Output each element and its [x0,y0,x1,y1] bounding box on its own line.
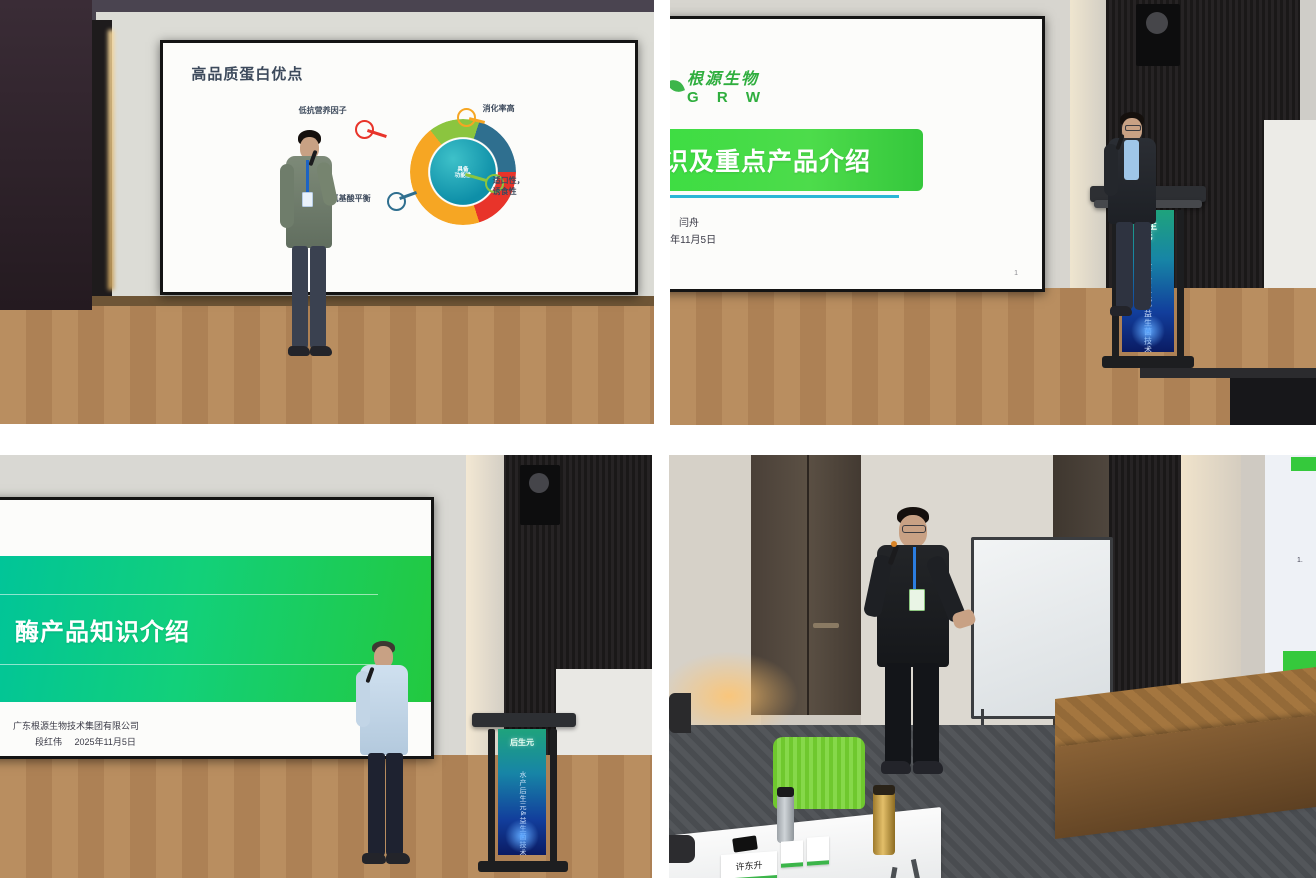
thermos-gold[interactable] [873,791,895,855]
callout-line-antinutrient [337,116,397,146]
slide-surface-2: 根源生物 G R W 识及重点产品介绍 闫舟 25年11月5日 1 [670,19,1042,289]
speaker-leg-left [292,246,308,350]
wall-right-2 [1264,120,1316,300]
podium-3: 后生元 水产后生元&益生菌技术峰会 [478,713,570,878]
podium-leg-right [1177,210,1184,360]
glasses-icon-4 [902,525,926,533]
speaker-leg-left-2 [1116,222,1133,310]
photo-collage: 高品质蛋白优点 top-right 具备 功能性 [0,0,1316,878]
door-handle [813,623,839,628]
slide-title: 高品质蛋白优点 [191,63,303,84]
speaker-cone-icon [1146,12,1168,34]
wall-left-panel [0,0,92,310]
slide-presenter: 闫舟 [670,215,716,232]
speaker-figure-2 [1106,112,1166,322]
speaker-shoe-left-4 [881,761,911,774]
speaker-shoe-left-3 [362,853,386,864]
slide-title-band: 识及重点产品介绍 [670,129,923,191]
callout-label-palatability-line2: 诱食性 [493,187,517,196]
podium-desktop-3 [472,713,576,727]
whiteboard-surface [974,540,1110,716]
podium-base [1102,356,1194,368]
scene-auditorium-2: 根源生物 G R W 识及重点产品介绍 闫舟 25年11月5日 1 [670,0,1316,425]
speaker-shoe-left [288,346,310,356]
speaker-cone-icon-3 [529,473,549,493]
scene-auditorium-3: 酶产品知识介绍 广东根源生物技术集团有限公司 段红伟 2025年11月5日 [0,455,652,878]
slide-meta-3: 广东根源生物技术集团有限公司 段红伟 2025年11月5日 [13,718,139,750]
wall-light-strip [108,30,114,290]
speaker-badge [302,192,313,207]
slide-presenter-3: 段红伟 2025年11月5日 [13,734,139,750]
podium-light-glow-3 [505,819,539,853]
band-inner-line-top [0,594,378,595]
band-inner-line-bottom [0,664,378,665]
slide-meta: 闫舟 25年11月5日 [670,215,716,249]
attendee-arm-left [669,835,695,863]
callout-label-digestibility: 消化率高 [483,104,515,114]
callout-line-aminoacid [365,190,425,220]
speaker-leg-right-3 [386,753,403,857]
speaker-shoe-right [310,346,332,356]
podium-logo-text-3: 后生元 [510,739,534,748]
donut-diagram: top-right 具备 功能性 消化率高 [371,98,616,252]
thermos-lid [873,785,895,795]
scene-auditorium-1: 高品质蛋白优点 top-right 具备 功能性 [0,0,654,424]
brand-logo: 根源生物 G R W [670,65,767,106]
title-underline-rule [670,195,899,198]
name-card: 许东升 [721,851,777,878]
projection-screen-frame-2: 根源生物 G R W 识及重点产品介绍 闫舟 25年11月5日 1 [670,16,1045,292]
slide-company: 广东根源生物技术集团有限公司 [13,718,139,734]
callout-label-antinutrient: 低抗营养因子 [299,106,347,116]
photo-speaker-with-enzyme-product-slide[interactable]: 酶产品知识介绍 广东根源生物技术集团有限公司 段红伟 2025年11月5日 [0,455,652,878]
speaker-shoe-left-2 [1110,306,1132,316]
side-projection-screen: 1. [1265,455,1316,677]
speaker-shoe-right-3 [386,853,410,864]
side-screen-text: 1. [1297,557,1303,564]
tumbler-lid [777,787,794,797]
speaker-arm-left [280,164,294,228]
slide-presenter-name-3: 段红伟 [35,737,62,747]
floor-parquet-2 [670,288,1316,425]
attendee-shoulder-left [669,693,691,733]
scene-conference-room-4: 1. [669,455,1316,878]
slide-date: 25年11月5日 [670,232,716,249]
ceiling-speaker-3 [520,465,560,525]
photo-speaker-gesturing-near-front-table[interactable]: 1. [669,455,1316,878]
stage-front-dark [1230,376,1316,425]
slide-surface-1: 高品质蛋白优点 top-right 具备 功能性 [163,43,635,292]
whiteboard-frame [971,537,1113,719]
callout-label-palatability: 适口性， 诱食性 [493,176,525,198]
photo-speaker-at-podium-with-title-slide[interactable]: 根源生物 G R W 识及重点产品介绍 闫舟 25年11月5日 1 [670,0,1316,425]
brand-logo-cn: 根源生物 [687,65,767,89]
speaker-leg-right-2 [1134,222,1151,310]
speaker-figure-4 [869,507,979,787]
microphone-tip-icon [891,541,897,547]
slide-date-3: 2025年11月5日 [75,737,136,747]
projection-screen-frame: 高品质蛋白优点 top-right 具备 功能性 [160,40,638,295]
speaker-arm-left-2 [1104,144,1118,196]
door-seam-center [807,455,809,715]
leaf-icon [670,77,685,95]
podium-base-3 [478,861,568,872]
name-card-2 [781,840,803,868]
speaker-leg-right-4 [913,663,939,767]
slide-title-text: 识及重点产品介绍 [670,142,871,178]
speaker-badge-4 [909,589,925,611]
wall-pillar-3 [466,455,504,755]
podium-leg-left-3 [488,729,495,863]
speaker-figure-1 [280,130,340,370]
speaker-lanyard-4 [913,547,916,591]
side-screen-green-band [1291,457,1316,471]
speaker-leg-left-4 [885,663,911,767]
speaker-shoe-right-4 [913,761,943,774]
speaker-leg-right [310,246,326,350]
tumbler-steel[interactable] [777,793,794,843]
podium-leg-right-3 [550,729,557,863]
speaker-figure-3 [358,641,418,877]
photo-speaker-with-protein-benefits-slide[interactable]: 高品质蛋白优点 top-right 具备 功能性 [0,0,654,424]
podium-panel-3: 后生元 水产后生元&益生菌技术峰会 [498,729,546,855]
slide-title-text-3: 酶产品知识介绍 [15,612,190,647]
callout-label-palatability-line1: 适口性， [493,176,525,185]
name-card-3 [807,836,829,866]
speaker-shirt [1124,140,1139,180]
ceiling-speaker [1136,4,1180,66]
slide-page-number: 1 [1014,270,1018,277]
glasses-icon [1125,125,1141,131]
brand-logo-en: G R W [687,89,767,106]
speaker-leg-left-3 [368,753,385,857]
